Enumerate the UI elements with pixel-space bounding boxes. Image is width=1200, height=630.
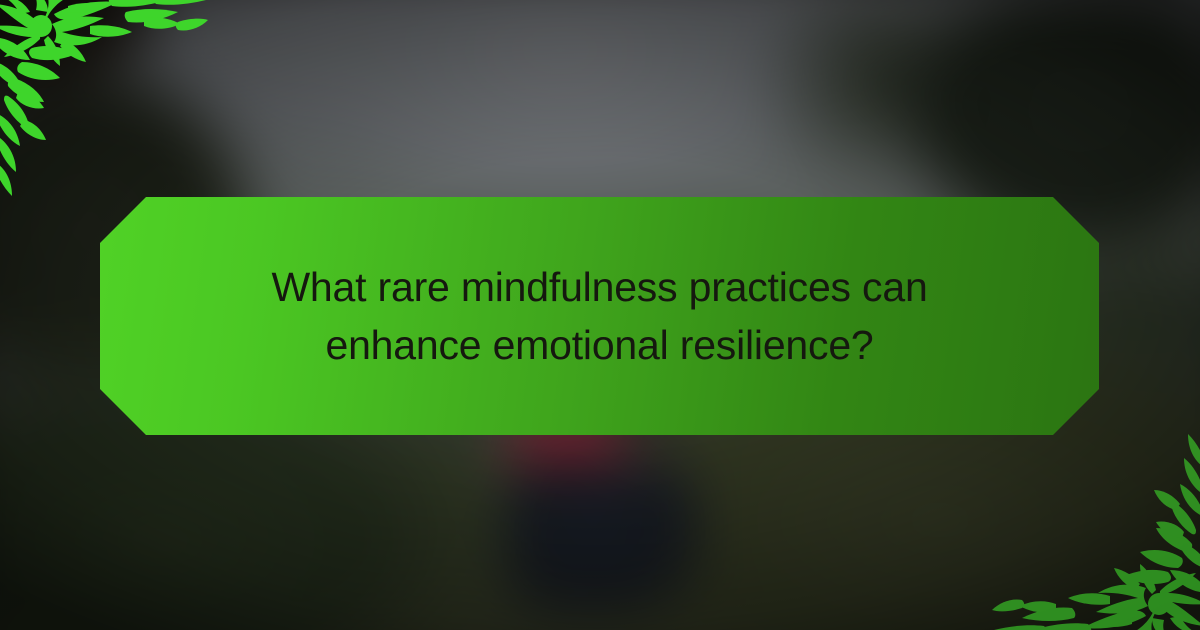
damask-corner-icon — [991, 423, 1200, 630]
question-banner: What rare mindfulness practices can enha… — [100, 197, 1099, 435]
share-card-canvas: What rare mindfulness practices can enha… — [0, 0, 1200, 630]
damask-corner-icon — [0, 0, 209, 207]
bottom-right-corner-ornament — [991, 423, 1200, 630]
question-title: What rare mindfulness practices can enha… — [136, 258, 1064, 374]
top-left-corner-ornament — [0, 0, 209, 207]
